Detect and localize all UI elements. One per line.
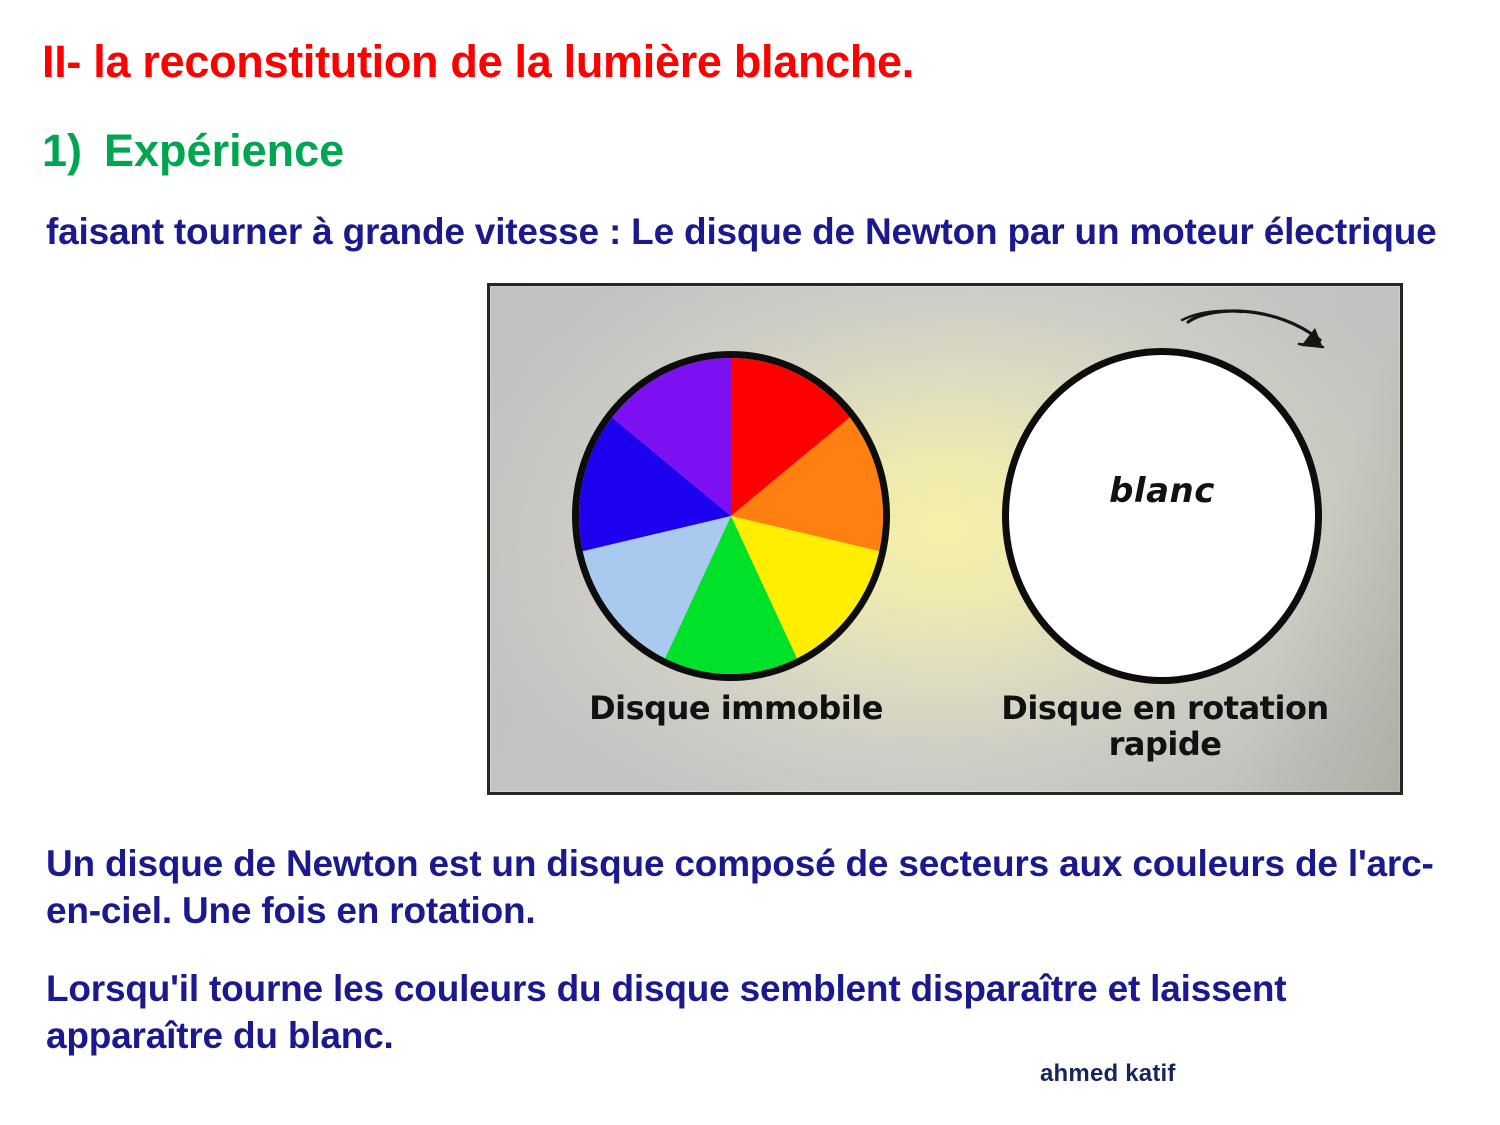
caption-stationary-disk: Disque immobile bbox=[526, 691, 946, 727]
figure-content: blanc Disque immobile Disque en rotation… bbox=[490, 286, 1400, 792]
white-disk: blanc bbox=[1002, 348, 1322, 684]
white-disk-label: blanc bbox=[1009, 471, 1315, 511]
author-signature: ahmed katif bbox=[1040, 1060, 1176, 1088]
section-label: Expérience bbox=[104, 125, 344, 176]
curved-rotation-arrow-icon bbox=[1180, 300, 1370, 390]
section-heading: 1)Expérience bbox=[42, 125, 344, 177]
observation-paragraph: Lorsqu'il tourne les couleurs du disque … bbox=[46, 965, 1446, 1060]
caption-rotating-disk: Disque en rotation rapide bbox=[985, 691, 1345, 763]
slide-root: II- la reconstitution de la lumière blan… bbox=[0, 0, 1500, 1125]
definition-paragraph: Un disque de Newton est un disque compos… bbox=[46, 840, 1446, 935]
intro-paragraph: faisant tourner à grande vitesse : Le di… bbox=[46, 208, 1466, 255]
page-title: II- la reconstitution de la lumière blan… bbox=[42, 36, 914, 88]
white-disk-face: blanc bbox=[1002, 348, 1322, 684]
colored-disk-face bbox=[572, 351, 890, 681]
section-number: 1) bbox=[42, 125, 82, 176]
newton-disk-figure: blanc Disque immobile Disque en rotation… bbox=[487, 283, 1403, 795]
colored-disk bbox=[572, 351, 890, 681]
pie-sectors-svg bbox=[579, 358, 883, 674]
